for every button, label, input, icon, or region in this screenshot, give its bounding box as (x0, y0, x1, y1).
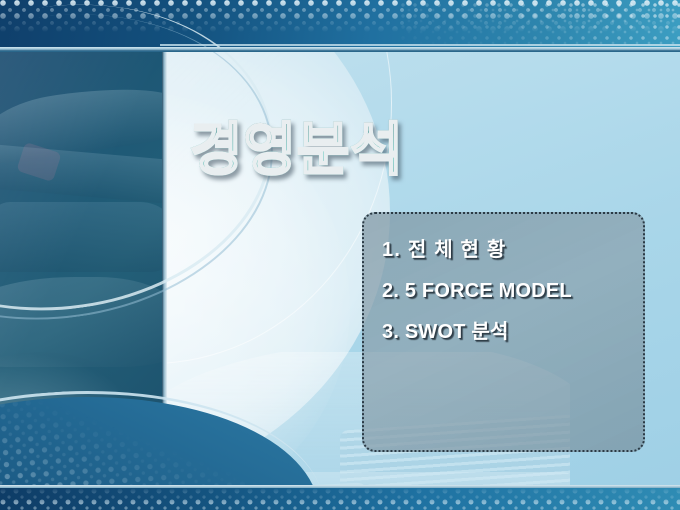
presentation-slide: 경영분석 1. 전 체 현 황 2. 5 FORCE MODEL 3. SWOT… (0, 0, 680, 510)
top-divider-rule (0, 47, 680, 52)
top-halftone-dots-right (400, 2, 680, 46)
agenda-item-1[interactable]: 1. 전 체 현 황 (382, 240, 632, 260)
agenda-list: 1. 전 체 현 황 2. 5 FORCE MODEL 3. SWOT 분석 (382, 240, 632, 363)
slide-title: 경영분석 (190, 104, 404, 186)
bottom-halftone-dots (0, 488, 680, 510)
agenda-item-2[interactable]: 2. 5 FORCE MODEL (382, 281, 632, 301)
agenda-box[interactable]: 1. 전 체 현 황 2. 5 FORCE MODEL 3. SWOT 분석 (362, 212, 645, 452)
agenda-item-3[interactable]: 3. SWOT 분석 (382, 322, 632, 342)
top-divider-highlight (160, 44, 680, 46)
